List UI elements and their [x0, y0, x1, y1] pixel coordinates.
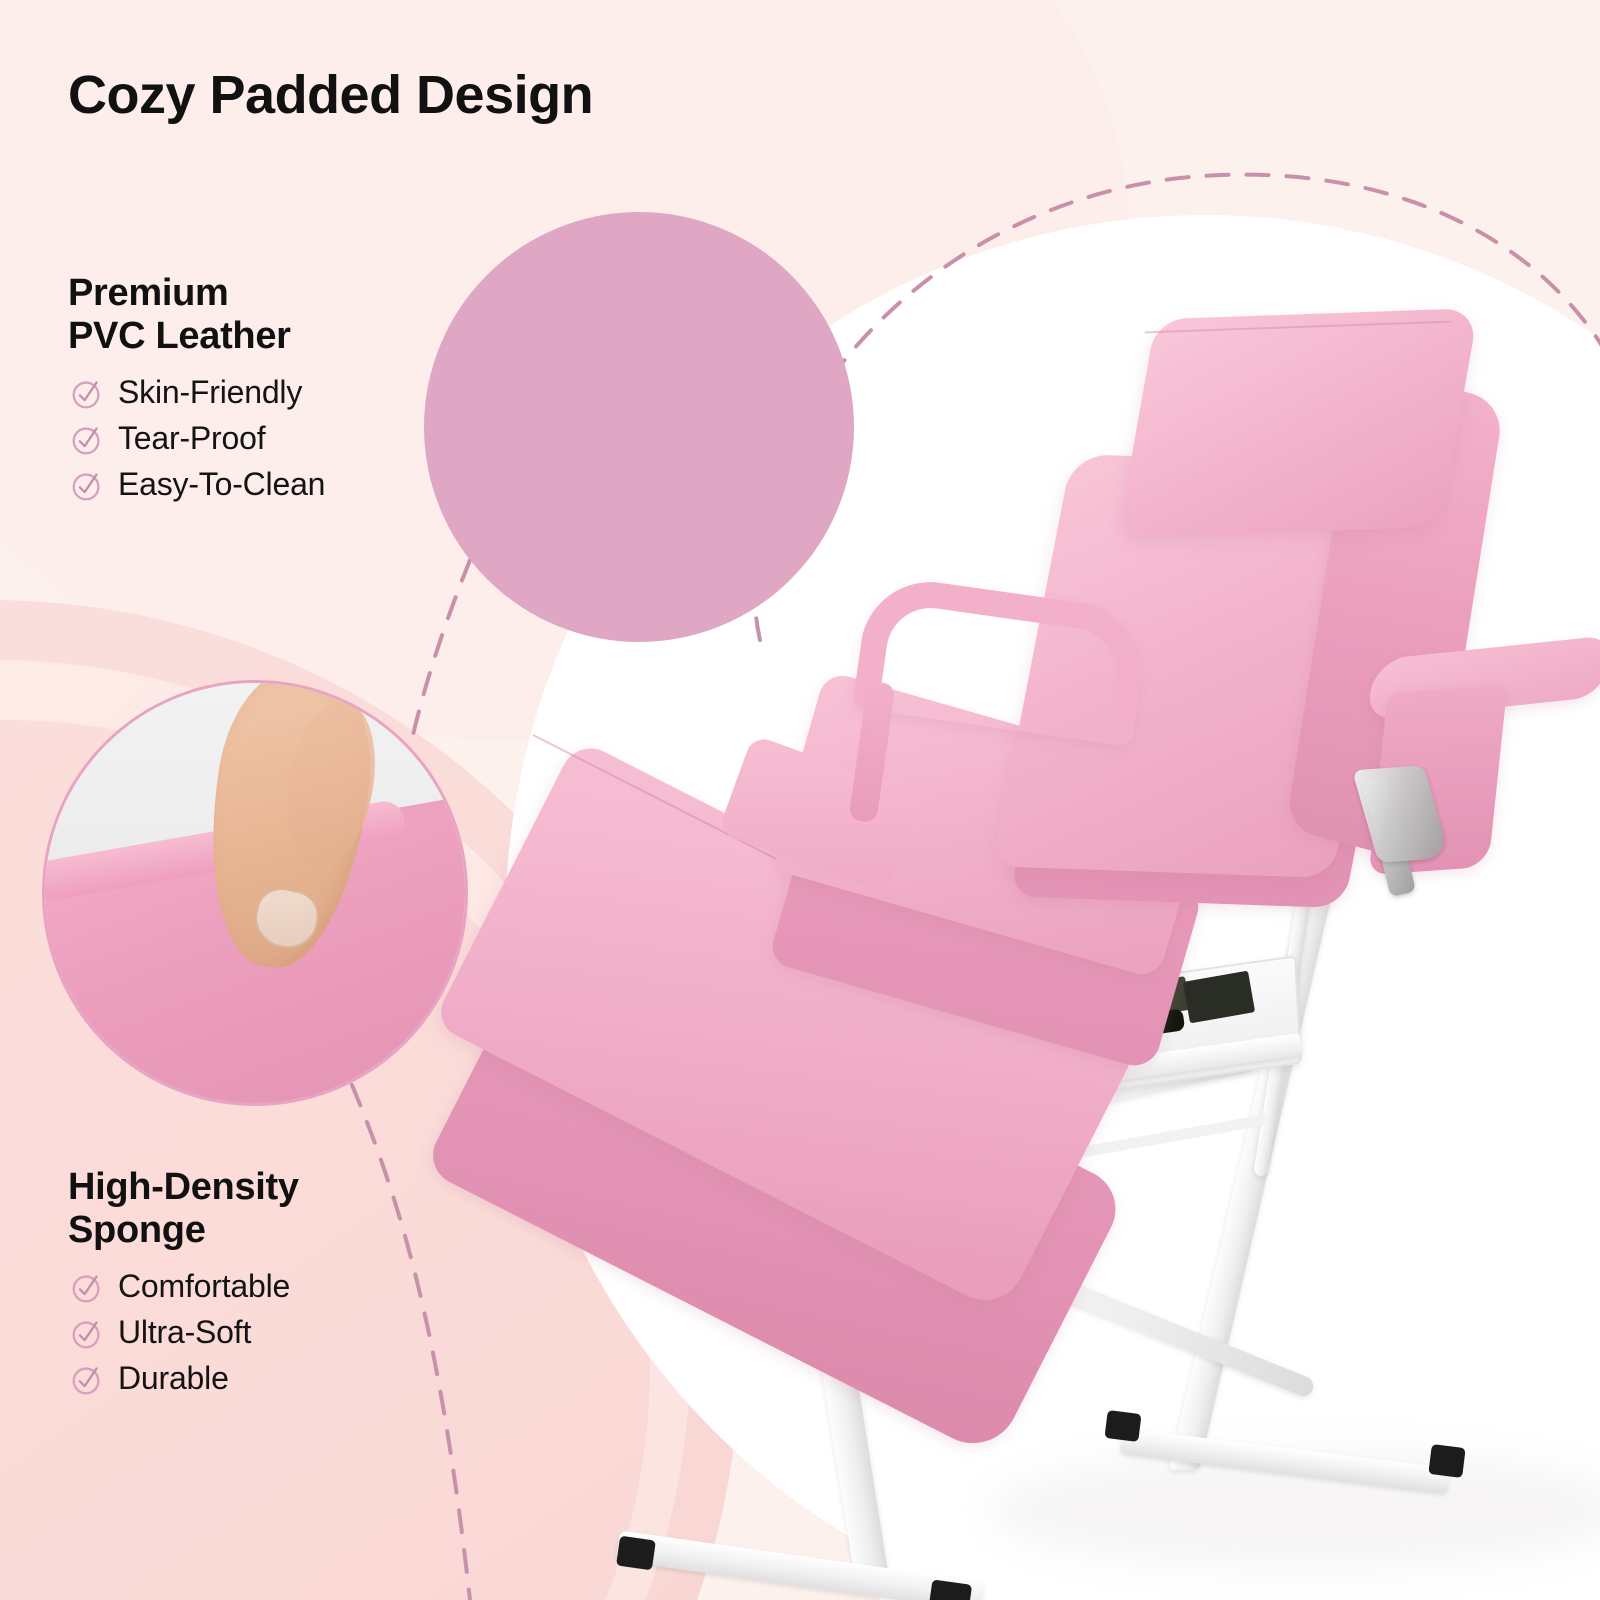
sponge-press-photo-circle	[42, 680, 468, 1106]
list-item-label: Easy-To-Clean	[118, 466, 325, 503]
check-circle-icon	[68, 420, 106, 458]
check-circle-icon	[68, 374, 106, 412]
list-item: Durable	[68, 1359, 299, 1397]
foot-cap-front-left	[616, 1536, 656, 1571]
feature-heading: Premium PVC Leather	[68, 272, 325, 357]
feature-block-premium-pvc-leather: Premium PVC Leather Skin-Friendly	[68, 272, 325, 511]
infographic-canvas: Cozy Padded Design Premium PVC Leather S…	[0, 0, 1600, 1600]
leather-swatch-circle	[424, 212, 854, 642]
list-item-label: Tear-Proof	[118, 420, 265, 457]
check-circle-icon	[68, 466, 106, 504]
page-title: Cozy Padded Design	[68, 64, 593, 126]
list-item: Easy-To-Clean	[68, 465, 325, 503]
list-item-label: Durable	[118, 1360, 229, 1397]
foot-cap-rear-right	[1428, 1444, 1465, 1478]
list-item: Comfortable	[68, 1267, 299, 1305]
list-item-label: Comfortable	[118, 1268, 290, 1305]
frame-front-foot-rail	[616, 1531, 985, 1600]
list-item: Tear-Proof	[68, 419, 325, 457]
feature-benefit-list: Skin-Friendly Tear-Proof	[68, 373, 325, 503]
list-item-label: Skin-Friendly	[118, 374, 302, 411]
feature-heading: High-Density Sponge	[68, 1166, 299, 1251]
list-item-label: Ultra-Soft	[118, 1314, 251, 1351]
check-circle-icon	[68, 1268, 106, 1306]
feature-benefit-list: Comfortable Ultra-Soft D	[68, 1267, 299, 1397]
headrest-cushion	[1117, 308, 1478, 538]
feature-block-high-density-sponge: High-Density Sponge Comfortable	[68, 1166, 299, 1405]
list-item: Ultra-Soft	[68, 1313, 299, 1351]
check-circle-icon	[68, 1314, 106, 1352]
foot-cap-rear-left	[1104, 1410, 1141, 1442]
list-item: Skin-Friendly	[68, 373, 325, 411]
check-circle-icon	[68, 1360, 106, 1398]
